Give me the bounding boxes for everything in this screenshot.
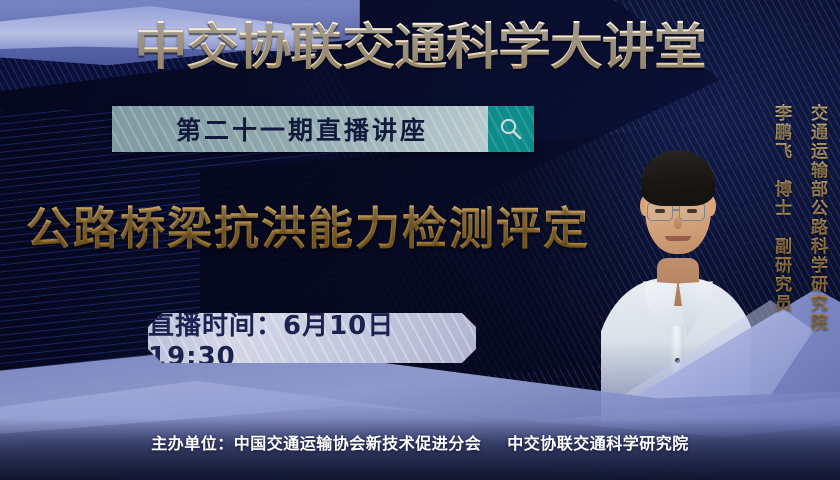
organizer-prefix: 主办单位： [151, 434, 234, 453]
speaker-organization: 交通运输部公路科学研究院 [805, 104, 830, 332]
speaker-name-title: 李鹏飞 博士 副研究员 [769, 104, 794, 313]
lecture-topic: 公路桥梁抗洪能力检测评定 [26, 202, 590, 256]
broadcast-time-label: 直播时间：6月10日19:30 [148, 313, 476, 363]
organizer-org-2: 中交协联交通科学研究院 [507, 434, 689, 453]
organizer-footer: 主办单位：中国交通运输协会新技术促进分会中交协联交通科学研究院 [0, 430, 840, 454]
search-icon [498, 116, 524, 142]
episode-label: 第二十一期直播讲座 [172, 111, 428, 147]
page-title: 中交协联交通科学大讲堂 [0, 18, 840, 76]
broadcast-time-plate: 直播时间：6月10日19:30 [148, 313, 476, 363]
speaker-fade-overlay [601, 118, 751, 428]
episode-banner-plate: 第二十一期直播讲座 [112, 106, 488, 152]
episode-banner: 第二十一期直播讲座 [112, 106, 534, 152]
search-icon-box[interactable] [488, 106, 534, 152]
livestream-poster: 中交协联交通科学大讲堂 中交协联交通科学大讲堂 第二十一期直播讲座 公路桥梁抗洪… [0, 0, 840, 480]
speaker-photo [601, 118, 751, 428]
organizer-org-1: 中国交通运输协会新技术促进分会 [234, 434, 482, 453]
